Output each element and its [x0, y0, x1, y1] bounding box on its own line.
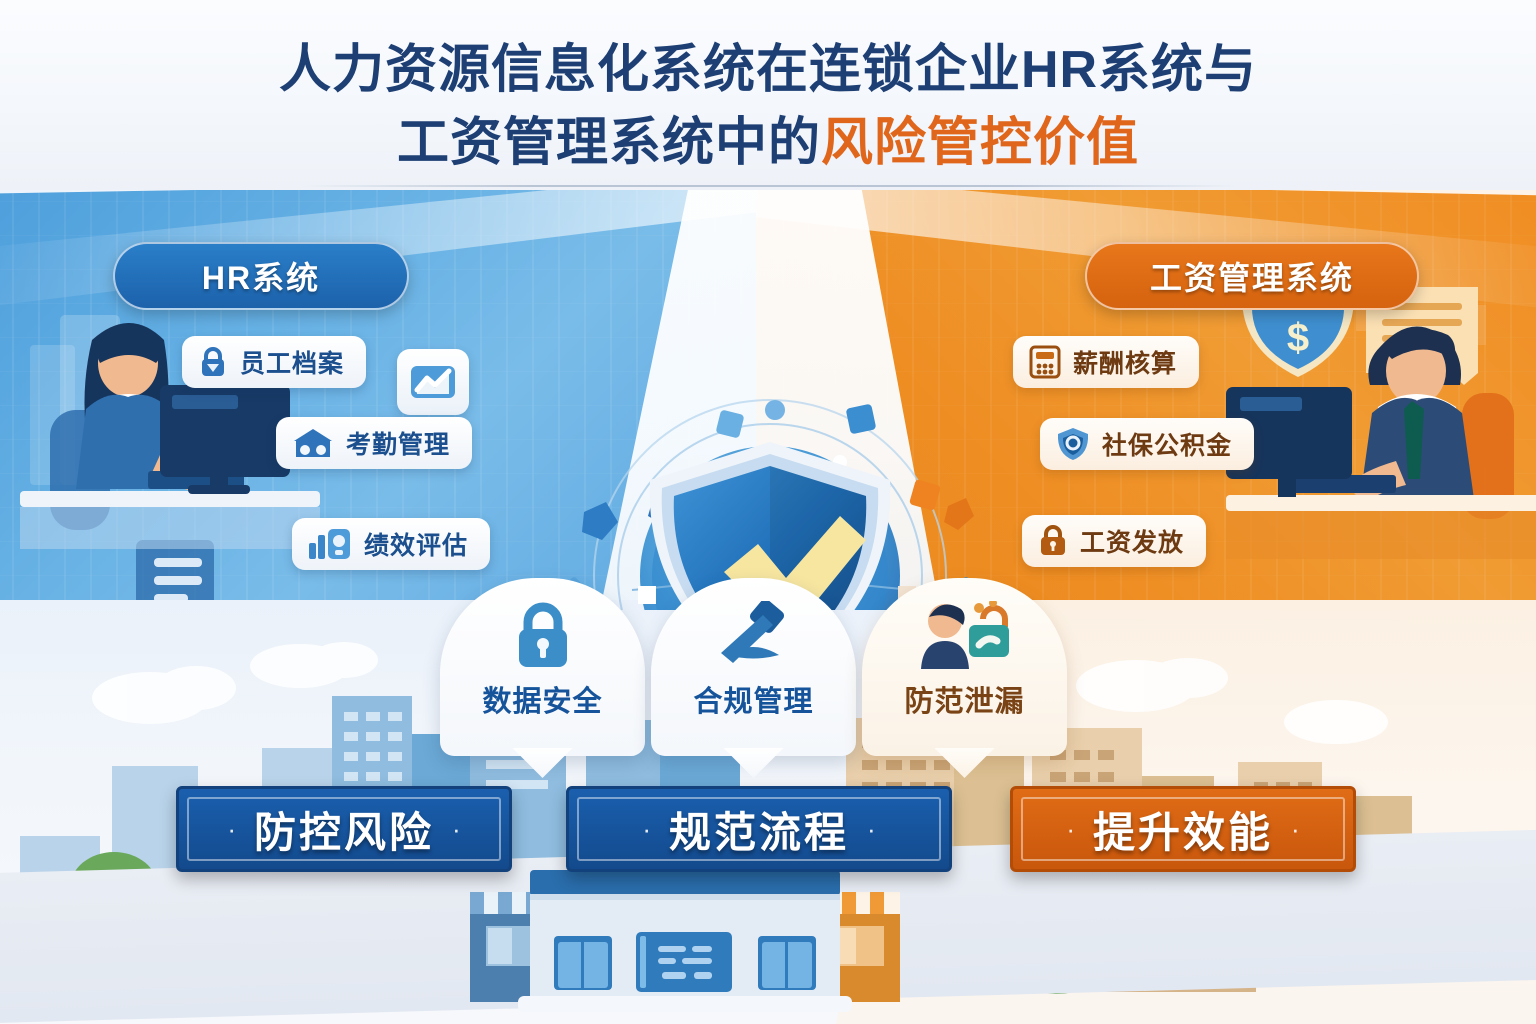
lock-icon — [198, 346, 228, 378]
hr-feature-pill-attendance-text: 考勤管理 — [346, 425, 450, 461]
chain-store-illustration — [470, 870, 900, 1024]
badge-icon-wrap — [511, 600, 575, 672]
plaque-bullet-left: · — [227, 814, 236, 845]
title-underline — [300, 185, 1240, 187]
title-line-2: 工资管理系统中的风险管控价值 — [0, 117, 1536, 169]
badge-leak-prevention-text: 防范泄漏 — [904, 678, 1024, 720]
plaque-bullet-right: · — [867, 814, 876, 845]
hr-system-label-text: HR系统 — [202, 253, 320, 299]
title-line-2-orange: 风险管控价值 — [821, 114, 1139, 172]
badge-compliance[interactable]: 合规管理 — [651, 578, 856, 756]
padlock-icon — [511, 601, 575, 671]
badge-data-security[interactable]: 数据安全 — [440, 578, 645, 756]
gavel-icon — [711, 601, 797, 671]
calculator-icon — [1029, 345, 1061, 379]
payroll-system-label[interactable]: 工资管理系统 — [1085, 242, 1419, 310]
title-area: 人力资源信息化系统在连锁企业HR系统与 工资管理系统中的风险管控价值 — [0, 0, 1536, 190]
badge-leak-prevention[interactable]: 防范泄漏 — [862, 578, 1067, 756]
plaque-risk-control[interactable]: · 防控风险 · — [176, 786, 512, 872]
payroll-system-label-text: 工资管理系统 — [1150, 253, 1354, 299]
plaque-bullet-right: · — [452, 814, 461, 845]
badge-icon-wrap — [917, 600, 1013, 672]
plaque-process-standardization-text: 规范流程 — [669, 799, 849, 860]
shield-check-icon — [1056, 426, 1090, 462]
lock-icon — [1038, 524, 1068, 558]
person-unlock-icon — [917, 601, 1013, 671]
trend-chart-icon-card — [397, 349, 469, 415]
man-at-desk-illustration: $ — [1226, 275, 1536, 585]
plaque-bullet-left: · — [1066, 814, 1075, 845]
plaque-efficiency-boost[interactable]: · 提升效能 · — [1010, 786, 1356, 872]
badge-compliance-text: 合规管理 — [693, 678, 813, 720]
title-line-1: 人力资源信息化系统在连锁企业HR系统与 — [0, 44, 1536, 96]
chart-card-icon — [308, 527, 352, 561]
trend-chart-icon — [409, 362, 457, 402]
payroll-feature-pill-calculation-text: 薪酬核算 — [1073, 344, 1177, 380]
woman-at-desk-illustration — [20, 285, 320, 585]
hr-system-label[interactable]: HR系统 — [113, 242, 409, 310]
badge-icon-wrap — [711, 600, 797, 672]
hr-feature-pill-attendance[interactable]: 考勤管理 — [276, 417, 472, 469]
hr-feature-pill-employee-file-text: 员工档案 — [240, 344, 344, 380]
payroll-feature-pill-insurance[interactable]: 社保公积金 — [1040, 418, 1254, 470]
plaque-process-standardization[interactable]: · 规范流程 · — [566, 786, 952, 872]
payroll-feature-pill-payment-text: 工资发放 — [1080, 523, 1184, 559]
value-badges-row: 数据安全 合规管理 — [0, 560, 1536, 770]
archive-icon — [292, 427, 334, 459]
payroll-feature-pill-insurance-text: 社保公积金 — [1102, 426, 1232, 462]
payroll-feature-pill-calculation[interactable]: 薪酬核算 — [1013, 336, 1199, 388]
hr-feature-pill-employee-file[interactable]: 员工档案 — [182, 336, 366, 388]
plaque-bullet-right: · — [1291, 814, 1300, 845]
infographic-canvas: $ — [0, 0, 1536, 1024]
plaque-bullet-left: · — [642, 814, 651, 845]
svg-text:$: $ — [1287, 316, 1309, 360]
badge-data-security-text: 数据安全 — [482, 678, 602, 720]
hr-feature-pill-performance-text: 绩效评估 — [364, 526, 468, 562]
plaque-risk-control-text: 防控风险 — [254, 799, 434, 860]
plaque-efficiency-boost-text: 提升效能 — [1093, 799, 1273, 860]
title-line-2-navy: 工资管理系统中的 — [397, 114, 821, 172]
